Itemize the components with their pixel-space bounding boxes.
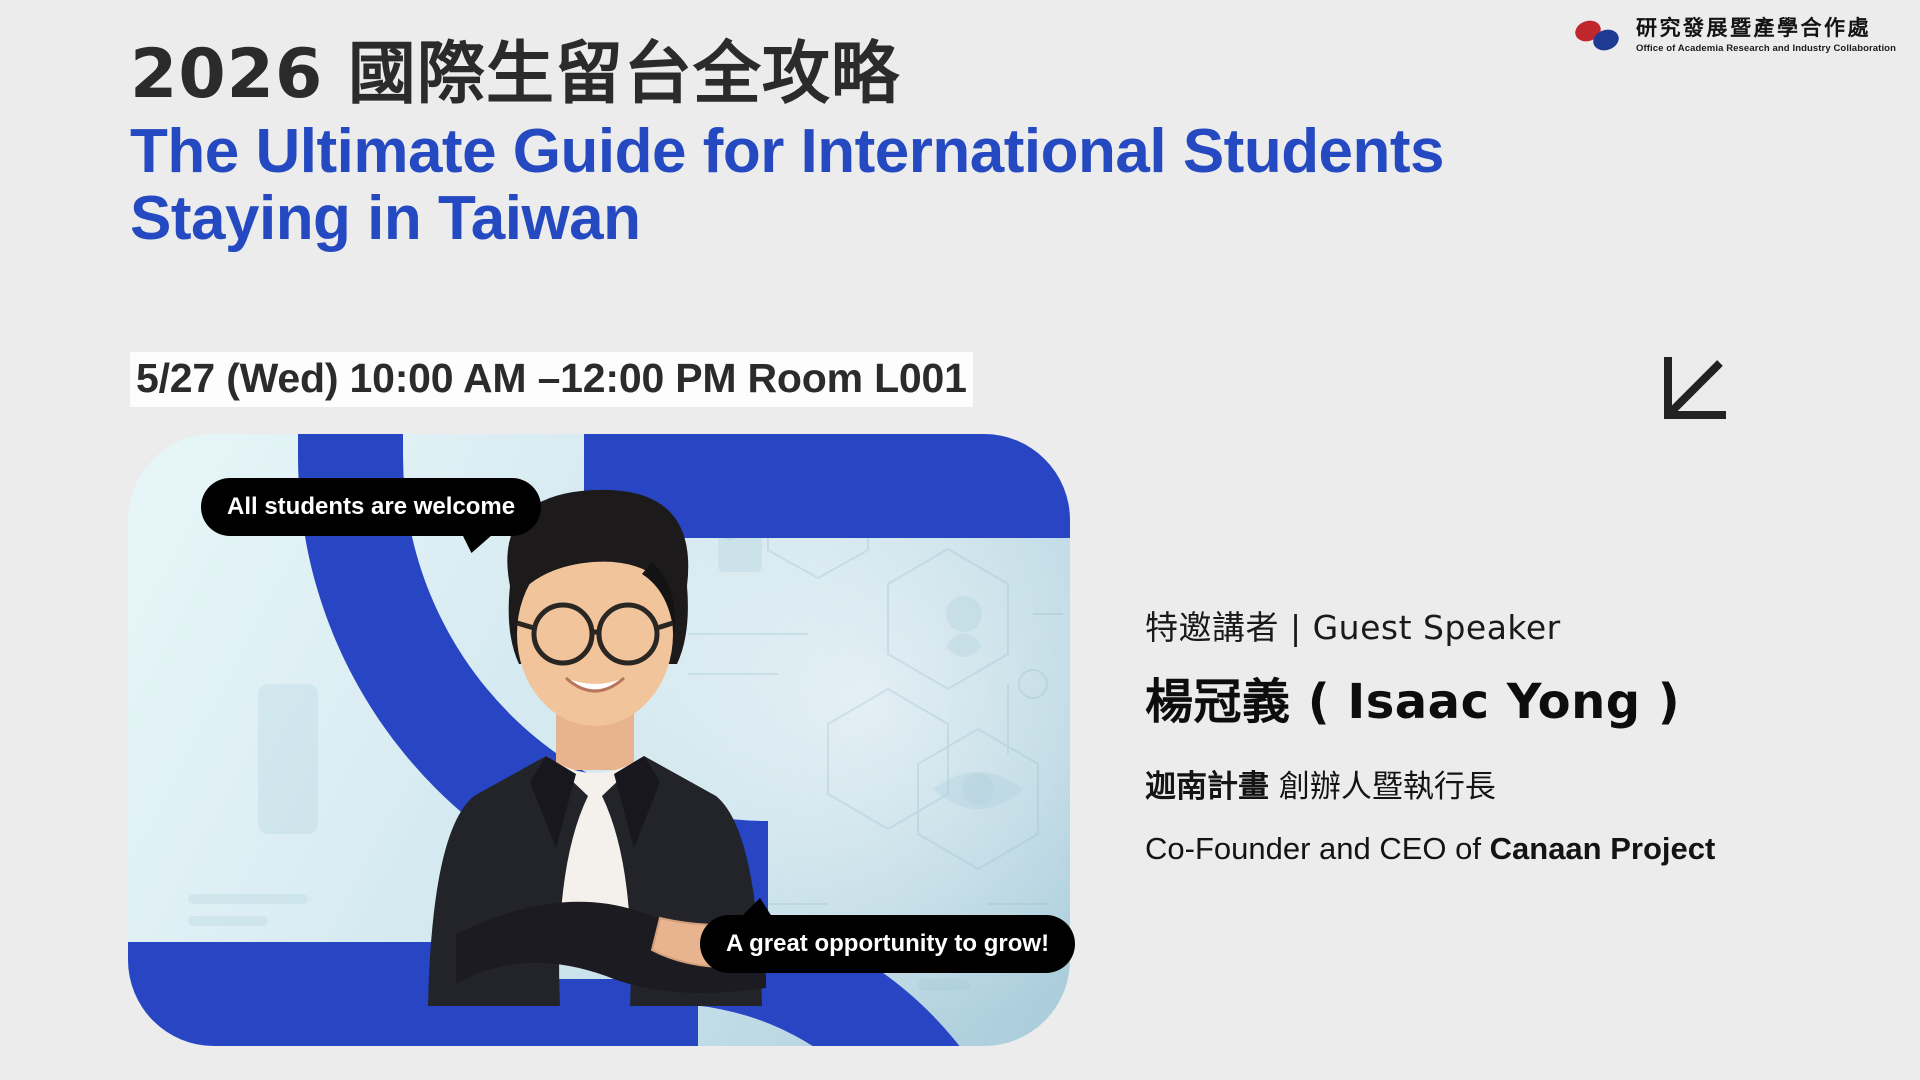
speech-bubble-grow-text: A great opportunity to grow!: [726, 930, 1049, 958]
org-logo-name-zh: 研究發展暨產學合作處: [1636, 18, 1896, 39]
arrow-down-left-icon: [1660, 353, 1730, 423]
speech-bubble-welcome-text: All students are welcome: [227, 493, 515, 521]
page-title-en-line2: Staying in Taiwan: [130, 186, 1750, 252]
event-poster: 研究發展暨產學合作處 Office of Academia Research a…: [0, 0, 1920, 1080]
page-title-en-line1: The Ultimate Guide for International Stu…: [130, 119, 1750, 185]
headline-block: 2026 國際生留台全攻略 The Ultimate Guide for Int…: [130, 38, 1830, 252]
page-title-zh: 2026 國際生留台全攻略: [130, 38, 1830, 111]
speaker-title-en: Co-Founder and CEO of: [1145, 831, 1490, 866]
speech-bubble-grow: A great opportunity to grow!: [700, 915, 1075, 973]
schedule-text: 5/27 (Wed) 10:00 AM –12:00 PM Room L001: [130, 352, 973, 407]
speaker-role-en: Co-Founder and CEO of Canaan Project: [1145, 829, 1885, 869]
schedule-bar: 5/27 (Wed) 10:00 AM –12:00 PM Room L001: [130, 352, 973, 407]
speaker-role-zh: 迦南計畫 創辦人暨執行長: [1145, 767, 1885, 807]
speaker-label: 特邀講者 | Guest Speaker: [1145, 608, 1885, 648]
speech-bubble-welcome: All students are welcome: [201, 478, 541, 536]
speaker-name: 楊冠義 ( Isaac Yong ): [1145, 674, 1885, 732]
speaker-title-zh: 創辦人暨執行長: [1279, 769, 1496, 805]
speaker-org-zh: 迦南計畫: [1145, 769, 1269, 805]
speaker-info-block: 特邀講者 | Guest Speaker 楊冠義 ( Isaac Yong ) …: [1145, 608, 1885, 870]
page-title-en: The Ultimate Guide for International Stu…: [130, 119, 1750, 252]
speaker-org-en: Canaan Project: [1490, 831, 1716, 866]
